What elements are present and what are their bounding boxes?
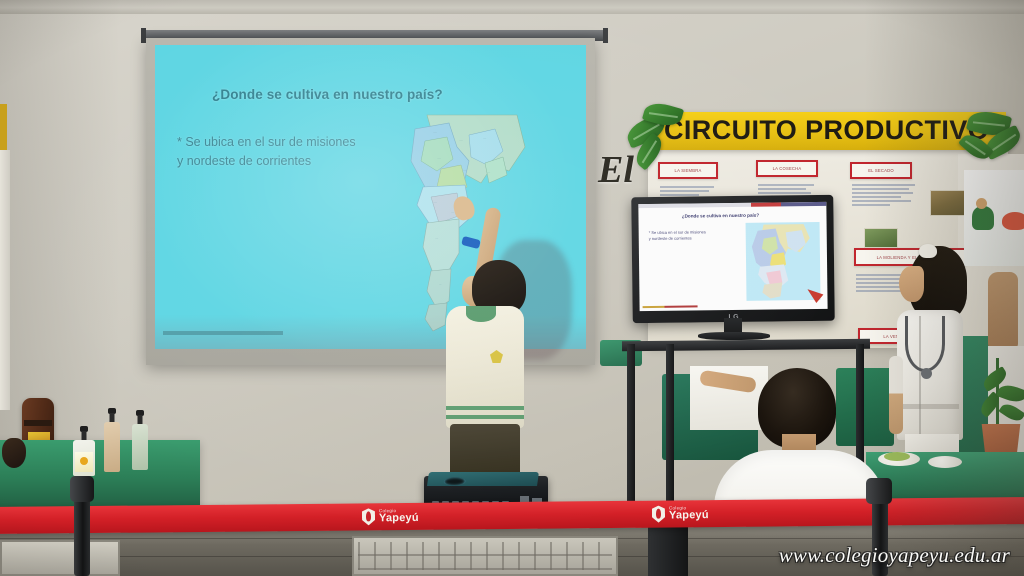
projector-top-shell — [427, 472, 539, 486]
presentation-status-strip — [643, 305, 698, 308]
yapeyu-logo: Colegio Yapeyú — [652, 505, 709, 523]
mate-gourd — [2, 438, 26, 468]
banner-prefix-el: El — [598, 148, 634, 192]
bench — [0, 540, 120, 576]
banner-strip: CIRCUITO PRODUCTIVO — [656, 112, 1006, 150]
plate — [928, 456, 962, 468]
arm — [988, 272, 1018, 348]
svg-text:....: .... — [463, 168, 467, 172]
logo-words: Colegio Yapeyú — [379, 509, 419, 525]
poster-text-block — [852, 184, 918, 228]
tv-map-image — [746, 222, 821, 301]
poster-label: LA COSECHA — [756, 160, 818, 177]
stethoscope-bell-icon — [921, 368, 932, 379]
poster-label: LA SIEMBRA — [658, 162, 718, 179]
yapeyu-logo: Colegio Yapeyú — [362, 508, 419, 526]
slide-footer-bar — [163, 331, 283, 335]
bottle — [73, 440, 95, 476]
banner-title: CIRCUITO PRODUCTIVO — [664, 115, 989, 146]
classroom-presentation-photo: ¿Donde se cultiva en nuestro país? * Se … — [0, 0, 1024, 576]
tv-slide-bullets: * Se ubica en el sur de misiones y norde… — [649, 229, 744, 242]
face — [899, 266, 924, 302]
boy-presenter — [432, 198, 542, 470]
logo-name: Yapeyú — [379, 513, 419, 524]
shirt-stripe — [446, 415, 524, 419]
wall-molding — [0, 0, 1024, 14]
tv-slide-bullet-2: y nordeste de corrientes — [649, 235, 744, 242]
svg-text:.....: ..... — [437, 156, 441, 160]
shield-icon — [362, 508, 375, 525]
coat-belt — [899, 404, 959, 409]
wristband — [461, 236, 481, 249]
left-table — [0, 440, 200, 510]
shirt-collar — [466, 306, 496, 322]
arm — [889, 356, 903, 434]
svg-text:.....: ..... — [433, 130, 437, 134]
slide-bullets: * Se ubica en el sur de misiones y norde… — [177, 133, 407, 172]
wall-edge-yellow-strip — [0, 104, 7, 156]
logo-name: Yapeyú — [669, 510, 709, 521]
tv-rack-leg — [627, 344, 635, 522]
cartoon-person-icon — [972, 206, 994, 230]
shirt-stripe — [446, 406, 524, 410]
tv-rack-leg — [666, 344, 674, 514]
hair-bow — [919, 244, 937, 258]
tv-slide-title: ¿Donde se cultiva en nuestro país? — [660, 212, 780, 218]
slide-title: ¿Donde se cultiva en nuestro país? — [212, 87, 482, 102]
slide-bullet-1: * Se ubica en el sur de misiones — [177, 133, 407, 152]
cartoon-shape — [1002, 212, 1024, 230]
stanchion-head — [866, 478, 892, 504]
tv-stand-base — [698, 332, 770, 340]
bottle — [132, 424, 148, 470]
stanchion-head — [70, 476, 94, 502]
pointing-hand — [451, 194, 476, 222]
plate-food — [884, 452, 910, 461]
sun-icon — [80, 457, 88, 465]
bottle-neck — [110, 413, 115, 422]
svg-text:.....: ..... — [459, 138, 463, 142]
svg-text:....: .... — [487, 170, 491, 174]
bottle-neck — [82, 431, 87, 440]
bottle-neck — [138, 415, 143, 424]
tv-bezel: ¿Donde se cultiva en nuestro país? * Se … — [631, 195, 835, 323]
bench-mesh — [358, 542, 612, 570]
shield-icon — [652, 506, 665, 523]
stethoscope-icon — [905, 316, 945, 372]
green-tablecloth — [0, 440, 200, 510]
tv-screen: ¿Donde se cultiva en nuestro país? * Se … — [638, 202, 827, 311]
trousers — [450, 424, 520, 472]
lg-tv-monitor: ¿Donde se cultiva en nuestro país? * Se … — [632, 196, 840, 346]
girl-in-lab-coat — [893, 246, 979, 471]
logo-words: Colegio Yapeyú — [669, 506, 709, 522]
wall-edge-white-strip — [0, 150, 10, 410]
poster-label: EL SECADO — [850, 162, 912, 179]
bottle — [104, 422, 120, 472]
presentation-toolbar-strip — [638, 202, 826, 208]
bench — [352, 536, 618, 576]
projector-lens — [443, 477, 466, 486]
website-watermark: www.colegioyapeyu.edu.ar — [779, 543, 1010, 568]
slide-bullet-2: y nordeste de corrientes — [177, 152, 407, 171]
svg-text:....: .... — [483, 136, 487, 140]
poster-photo — [864, 228, 898, 248]
